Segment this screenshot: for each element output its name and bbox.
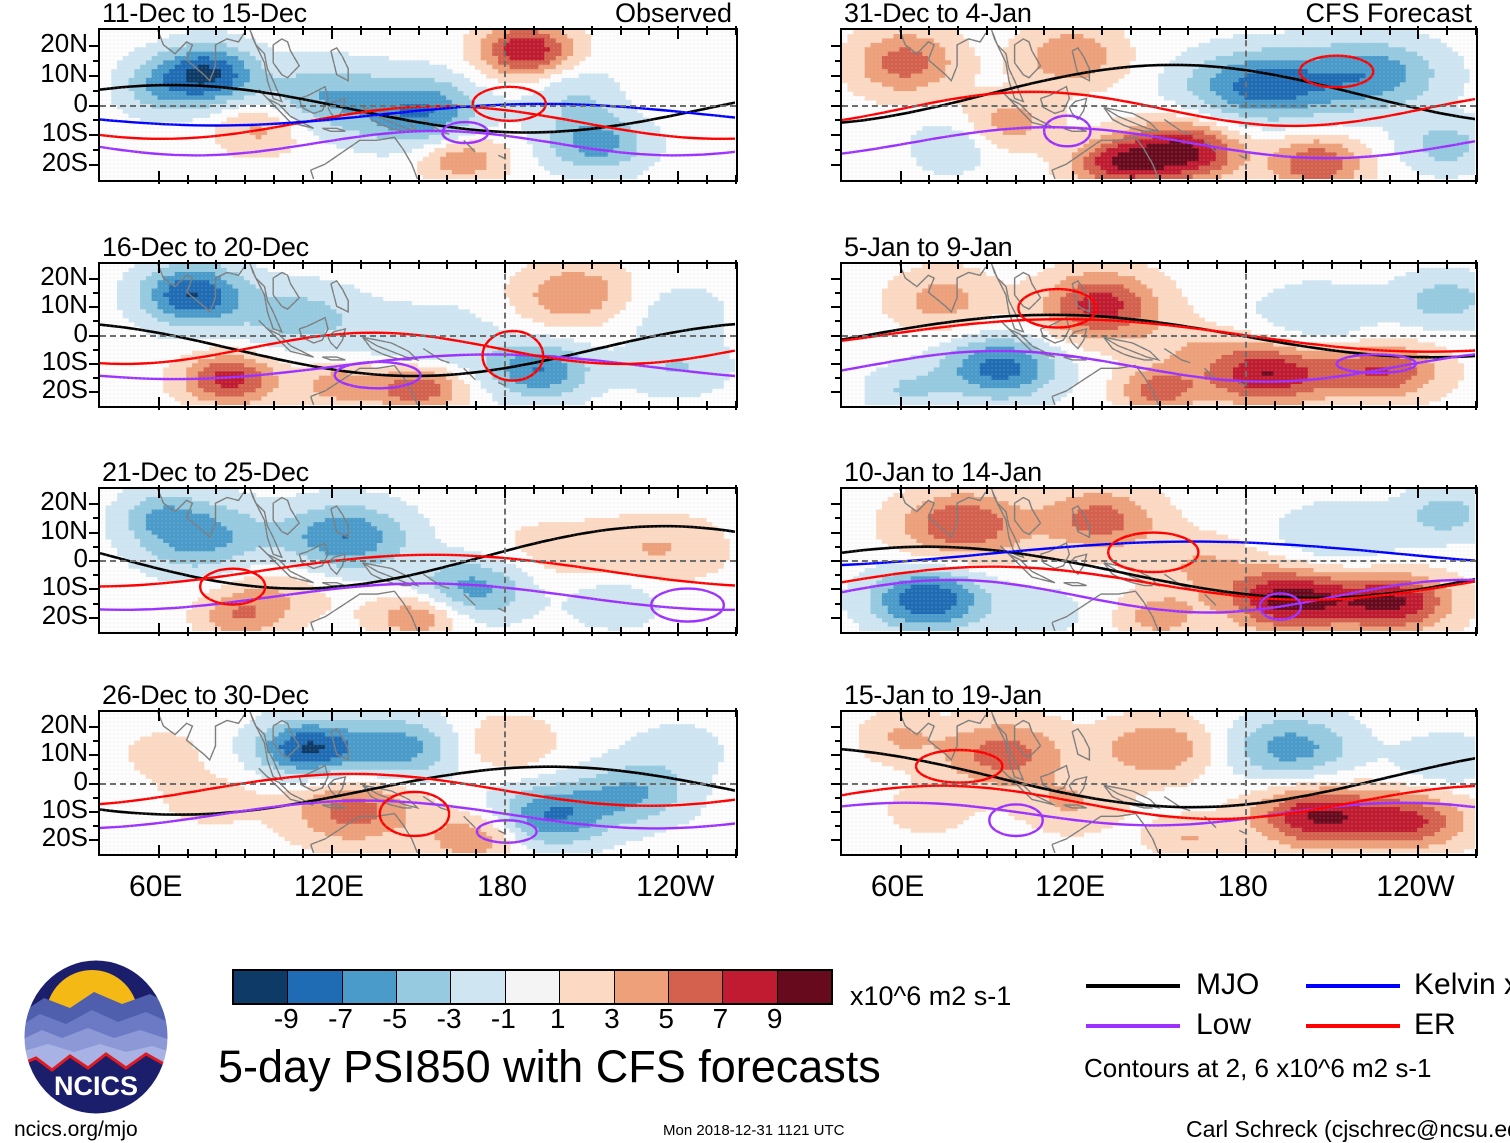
x-minor-tick-top: [1331, 26, 1333, 35]
y-minor-tick: [93, 377, 100, 379]
x-minor-tick: [957, 849, 959, 858]
x-minor-tick-top: [1015, 260, 1017, 269]
x-minor-tick: [1130, 401, 1132, 410]
x-minor-tick-top: [1360, 26, 1362, 35]
legend-label-mjo: MJO: [1196, 968, 1259, 1002]
y-minor-tick: [93, 349, 100, 351]
x-minor-tick-top: [620, 260, 622, 269]
y-tick: [831, 134, 842, 136]
y-axis-label: 10N: [0, 515, 88, 546]
x-minor-tick: [1446, 401, 1448, 410]
x-minor-tick: [1475, 175, 1477, 184]
x-tick-top: [1245, 260, 1247, 273]
y-minor-tick: [835, 574, 842, 576]
y-tick: [89, 726, 100, 728]
x-minor-tick: [389, 175, 391, 184]
x-minor-tick-top: [1446, 485, 1448, 494]
x-minor-tick: [187, 401, 189, 410]
x-minor-tick-top: [1216, 485, 1218, 494]
x-minor-tick: [1274, 627, 1276, 636]
x-minor-tick: [1187, 175, 1189, 184]
y-tick: [89, 811, 100, 813]
x-minor-tick-top: [706, 26, 708, 35]
x-minor-tick: [244, 175, 246, 184]
x-tick: [504, 623, 506, 636]
x-minor-tick: [1159, 627, 1161, 636]
x-minor-tick-top: [1159, 485, 1161, 494]
x-minor-tick: [446, 849, 448, 858]
x-minor-tick-top: [591, 485, 593, 494]
x-minor-tick: [1216, 175, 1218, 184]
x-tick-top: [331, 260, 333, 273]
x-minor-tick-top: [302, 260, 304, 269]
x-minor-tick-top: [446, 708, 448, 717]
x-minor-tick-top: [187, 485, 189, 494]
y-minor-tick: [835, 377, 842, 379]
x-minor-tick-top: [1331, 485, 1333, 494]
x-minor-tick: [1043, 849, 1045, 858]
colorbar-swatch: [234, 971, 288, 1003]
x-minor-tick: [389, 627, 391, 636]
column-header-cfs-forecast: CFS Forecast: [1305, 0, 1472, 29]
x-minor-tick-top: [648, 26, 650, 35]
x-minor-tick-top: [1043, 708, 1045, 717]
x-minor-tick-top: [1130, 26, 1132, 35]
x-axis-label: 60E: [871, 870, 924, 904]
x-minor-tick-top: [648, 260, 650, 269]
y-axis-label: 10S: [0, 346, 88, 377]
panel-title: 15-Jan to 19-Jan: [844, 680, 1042, 711]
x-minor-tick-top: [418, 708, 420, 717]
x-minor-tick: [1043, 627, 1045, 636]
colorbar-tick-label: 7: [690, 1003, 750, 1035]
x-minor-tick: [1274, 401, 1276, 410]
x-minor-tick-top: [1331, 260, 1333, 269]
y-axis-label: 20S: [0, 374, 88, 405]
colorbar-swatch: [506, 971, 560, 1003]
x-minor-tick: [1216, 627, 1218, 636]
y-axis-label: 10S: [0, 117, 88, 148]
equator-line: [842, 783, 1476, 785]
equator-line: [842, 560, 1476, 562]
x-tick: [677, 171, 679, 184]
x-minor-tick: [1389, 401, 1391, 410]
x-minor-tick: [1015, 401, 1017, 410]
x-tick-top: [1417, 708, 1419, 721]
y-tick: [89, 105, 100, 107]
x-minor-tick: [1389, 627, 1391, 636]
x-minor-tick-top: [1274, 260, 1276, 269]
x-minor-tick: [1043, 401, 1045, 410]
y-tick: [89, 754, 100, 756]
footer-left-link[interactable]: ncics.org/mjo: [14, 1118, 138, 1142]
y-tick: [831, 105, 842, 107]
y-tick: [831, 726, 842, 728]
x-minor-tick-top: [187, 260, 189, 269]
x-minor-tick-top: [706, 485, 708, 494]
x-minor-tick: [1159, 175, 1161, 184]
x-tick-top: [677, 260, 679, 273]
x-minor-tick: [591, 849, 593, 858]
x-minor-tick-top: [1274, 485, 1276, 494]
x-minor-tick-top: [928, 485, 930, 494]
dateline-line: [1245, 712, 1247, 854]
x-minor-tick-top: [1043, 485, 1045, 494]
x-tick-top: [158, 260, 160, 273]
x-minor-tick-top: [648, 708, 650, 717]
x-tick: [158, 845, 160, 858]
colorbar-tick-label: -1: [473, 1003, 533, 1035]
x-minor-tick: [273, 627, 275, 636]
x-tick-top: [900, 26, 902, 39]
dateline-line: [1245, 30, 1247, 180]
y-tick: [831, 278, 842, 280]
x-tick: [504, 845, 506, 858]
x-minor-tick: [215, 401, 217, 410]
colorbar-tick-label: 1: [528, 1003, 588, 1035]
x-minor-tick: [1302, 849, 1304, 858]
x-minor-tick: [562, 627, 564, 636]
x-tick-top: [677, 485, 679, 498]
x-minor-tick: [215, 849, 217, 858]
x-minor-tick-top: [591, 26, 593, 35]
map-panel: [98, 262, 738, 408]
x-minor-tick: [1389, 175, 1391, 184]
colorbar-units: x10^6 m2 s-1: [850, 981, 1011, 1012]
x-minor-tick: [1043, 175, 1045, 184]
x-minor-tick-top: [1475, 260, 1477, 269]
x-minor-tick-top: [418, 26, 420, 35]
dateline-line: [504, 489, 506, 632]
y-tick: [831, 839, 842, 841]
x-tick: [677, 845, 679, 858]
y-axis-label: 10N: [0, 737, 88, 768]
x-minor-tick: [1159, 849, 1161, 858]
x-minor-tick-top: [1216, 260, 1218, 269]
x-minor-tick-top: [360, 260, 362, 269]
x-minor-tick: [986, 849, 988, 858]
x-minor-tick: [928, 627, 930, 636]
x-minor-tick: [244, 849, 246, 858]
colorbar-tick-label: -5: [365, 1003, 425, 1035]
x-tick: [158, 623, 160, 636]
x-minor-tick-top: [389, 485, 391, 494]
y-tick: [831, 391, 842, 393]
x-minor-tick: [418, 401, 420, 410]
y-tick: [89, 532, 100, 534]
x-tick: [1072, 397, 1074, 410]
x-tick: [331, 171, 333, 184]
y-minor-tick: [835, 349, 842, 351]
x-minor-tick: [1187, 401, 1189, 410]
x-minor-tick-top: [1159, 260, 1161, 269]
y-tick: [831, 532, 842, 534]
x-minor-tick-top: [1302, 26, 1304, 35]
x-tick: [158, 171, 160, 184]
y-tick: [89, 839, 100, 841]
x-axis-label: 120E: [1035, 870, 1105, 904]
x-tick-top: [1245, 26, 1247, 39]
x-minor-tick: [648, 849, 650, 858]
x-minor-tick-top: [1101, 260, 1103, 269]
x-minor-tick-top: [1302, 485, 1304, 494]
y-tick: [831, 560, 842, 562]
dateline-line: [504, 264, 506, 406]
x-minor-tick: [273, 401, 275, 410]
x-tick-top: [900, 260, 902, 273]
y-tick: [89, 617, 100, 619]
x-minor-tick: [648, 401, 650, 410]
y-tick: [89, 588, 100, 590]
x-minor-tick-top: [1101, 708, 1103, 717]
x-minor-tick: [187, 175, 189, 184]
x-tick-top: [1072, 708, 1074, 721]
y-tick: [831, 335, 842, 337]
map-panel: [98, 710, 738, 856]
x-minor-tick: [1446, 627, 1448, 636]
x-minor-tick-top: [562, 260, 564, 269]
x-minor-tick-top: [620, 708, 622, 717]
x-minor-tick: [1360, 175, 1362, 184]
y-tick: [89, 391, 100, 393]
map-panel: [98, 28, 738, 182]
x-minor-tick-top: [620, 26, 622, 35]
x-tick: [1072, 171, 1074, 184]
x-minor-tick: [1130, 849, 1132, 858]
colorbar-tick-label: -3: [419, 1003, 479, 1035]
x-tick: [1072, 845, 1074, 858]
x-minor-tick-top: [735, 26, 737, 35]
x-tick-top: [1417, 485, 1419, 498]
x-minor-tick: [533, 627, 535, 636]
x-minor-tick: [928, 175, 930, 184]
x-minor-tick: [735, 849, 737, 858]
x-minor-tick: [446, 401, 448, 410]
x-tick: [900, 171, 902, 184]
x-minor-tick-top: [273, 485, 275, 494]
x-tick-top: [1072, 26, 1074, 39]
y-minor-tick: [835, 292, 842, 294]
x-minor-tick: [244, 627, 246, 636]
dateline-line: [504, 712, 506, 854]
x-minor-tick-top: [1216, 708, 1218, 717]
x-minor-tick: [591, 401, 593, 410]
x-tick-top: [331, 485, 333, 498]
panel-title: 10-Jan to 14-Jan: [844, 457, 1042, 488]
x-minor-tick-top: [957, 26, 959, 35]
x-minor-tick: [1302, 627, 1304, 636]
x-minor-tick: [1302, 401, 1304, 410]
x-minor-tick: [360, 849, 362, 858]
x-minor-tick: [620, 401, 622, 410]
colorbar-tick-label: -7: [311, 1003, 371, 1035]
x-minor-tick: [302, 401, 304, 410]
x-minor-tick-top: [360, 708, 362, 717]
x-minor-tick-top: [986, 485, 988, 494]
y-minor-tick: [93, 60, 100, 62]
y-tick: [89, 560, 100, 562]
x-minor-tick: [1216, 849, 1218, 858]
x-minor-tick-top: [215, 260, 217, 269]
x-tick-top: [504, 26, 506, 39]
x-minor-tick: [273, 175, 275, 184]
x-minor-tick-top: [928, 708, 930, 717]
x-tick: [1072, 623, 1074, 636]
x-minor-tick-top: [475, 485, 477, 494]
x-minor-tick: [187, 849, 189, 858]
x-tick-top: [331, 708, 333, 721]
colorbar-swatch: [615, 971, 669, 1003]
x-minor-tick-top: [1475, 485, 1477, 494]
y-minor-tick: [93, 517, 100, 519]
y-tick: [831, 811, 842, 813]
x-tick: [1417, 171, 1419, 184]
y-minor-tick: [835, 825, 842, 827]
x-minor-tick-top: [562, 708, 564, 717]
y-axis-label: 20S: [0, 147, 88, 178]
legend-line-kelvin: [1306, 984, 1400, 988]
x-minor-tick: [957, 175, 959, 184]
colorbar-tick-label: 5: [636, 1003, 696, 1035]
y-tick: [831, 617, 842, 619]
y-minor-tick: [835, 320, 842, 322]
x-minor-tick: [215, 175, 217, 184]
x-tick: [1417, 845, 1419, 858]
y-axis-label: 10S: [0, 571, 88, 602]
x-minor-tick-top: [1015, 485, 1017, 494]
x-tick: [158, 397, 160, 410]
x-minor-tick-top: [446, 260, 448, 269]
x-tick: [1417, 623, 1419, 636]
x-minor-tick-top: [244, 485, 246, 494]
x-minor-tick-top: [648, 485, 650, 494]
x-minor-tick: [706, 627, 708, 636]
y-tick: [89, 783, 100, 785]
x-axis-label: 180: [1218, 870, 1268, 904]
y-tick: [89, 164, 100, 166]
y-tick: [89, 363, 100, 365]
x-minor-tick-top: [475, 26, 477, 35]
dateline-line: [1245, 489, 1247, 632]
x-minor-tick: [418, 627, 420, 636]
legend-label-kelvin: Kelvin x2: [1414, 968, 1510, 1002]
y-tick: [89, 75, 100, 77]
y-minor-tick: [835, 119, 842, 121]
x-minor-tick-top: [986, 708, 988, 717]
y-minor-tick: [93, 740, 100, 742]
x-minor-tick: [648, 627, 650, 636]
x-minor-tick: [1302, 175, 1304, 184]
y-axis-label: 20N: [0, 261, 88, 292]
x-minor-tick-top: [1446, 26, 1448, 35]
x-tick: [1245, 623, 1247, 636]
x-tick: [504, 397, 506, 410]
y-tick: [831, 363, 842, 365]
x-minor-tick-top: [244, 260, 246, 269]
x-tick-top: [331, 26, 333, 39]
y-tick: [89, 45, 100, 47]
x-minor-tick-top: [957, 485, 959, 494]
x-minor-tick-top: [1475, 26, 1477, 35]
x-minor-tick: [562, 175, 564, 184]
x-minor-tick-top: [418, 485, 420, 494]
x-minor-tick-top: [1274, 26, 1276, 35]
x-minor-tick-top: [1360, 485, 1362, 494]
x-minor-tick: [446, 627, 448, 636]
x-minor-tick-top: [735, 708, 737, 717]
x-minor-tick: [446, 175, 448, 184]
x-minor-tick: [215, 627, 217, 636]
y-axis-label: 20N: [0, 28, 88, 59]
y-minor-tick: [835, 517, 842, 519]
x-minor-tick-top: [735, 260, 737, 269]
y-minor-tick: [835, 90, 842, 92]
x-tick-top: [1072, 485, 1074, 498]
x-minor-tick: [1360, 401, 1362, 410]
x-minor-tick: [1331, 175, 1333, 184]
x-minor-tick: [620, 627, 622, 636]
x-minor-tick-top: [562, 485, 564, 494]
x-minor-tick: [1360, 627, 1362, 636]
contour-note: Contours at 2, 6 x10^6 m2 s-1: [1084, 1053, 1431, 1084]
y-tick: [89, 278, 100, 280]
y-minor-tick: [93, 546, 100, 548]
x-minor-tick: [735, 401, 737, 410]
x-minor-tick-top: [1159, 26, 1161, 35]
equator-line: [100, 335, 736, 337]
y-axis-label: 20S: [0, 600, 88, 631]
x-axis-label: 60E: [129, 870, 182, 904]
x-minor-tick: [1475, 401, 1477, 410]
panel-title: 11-Dec to 15-Dec: [102, 0, 307, 29]
x-minor-tick-top: [533, 485, 535, 494]
x-minor-tick-top: [1389, 26, 1391, 35]
ncics-logo: NCICS: [22, 958, 170, 1116]
x-tick: [677, 623, 679, 636]
equator-line: [100, 105, 736, 107]
x-axis-label: 120W: [636, 870, 714, 904]
y-axis-label: 20S: [0, 822, 88, 853]
colorbar-swatch: [397, 971, 451, 1003]
x-minor-tick: [475, 401, 477, 410]
colorbar-tick-label: 9: [745, 1003, 805, 1035]
x-minor-tick: [706, 401, 708, 410]
y-tick: [89, 335, 100, 337]
x-minor-tick-top: [1015, 708, 1017, 717]
x-minor-tick: [360, 627, 362, 636]
x-minor-tick: [302, 627, 304, 636]
colorbar-tick-label: 3: [582, 1003, 642, 1035]
x-minor-tick: [533, 175, 535, 184]
x-tick-top: [900, 708, 902, 721]
x-minor-tick-top: [1130, 708, 1132, 717]
y-axis-label: 0: [0, 543, 88, 574]
x-minor-tick: [360, 401, 362, 410]
y-minor-tick: [835, 60, 842, 62]
colorbar-swatch: [669, 971, 723, 1003]
x-minor-tick: [1360, 849, 1362, 858]
x-minor-tick: [1274, 849, 1276, 858]
y-tick: [89, 306, 100, 308]
x-minor-tick: [620, 175, 622, 184]
x-minor-tick-top: [1187, 708, 1189, 717]
x-minor-tick-top: [475, 708, 477, 717]
y-minor-tick: [835, 797, 842, 799]
x-minor-tick: [533, 401, 535, 410]
y-minor-tick: [93, 574, 100, 576]
x-minor-tick: [620, 849, 622, 858]
equator-line: [100, 783, 736, 785]
